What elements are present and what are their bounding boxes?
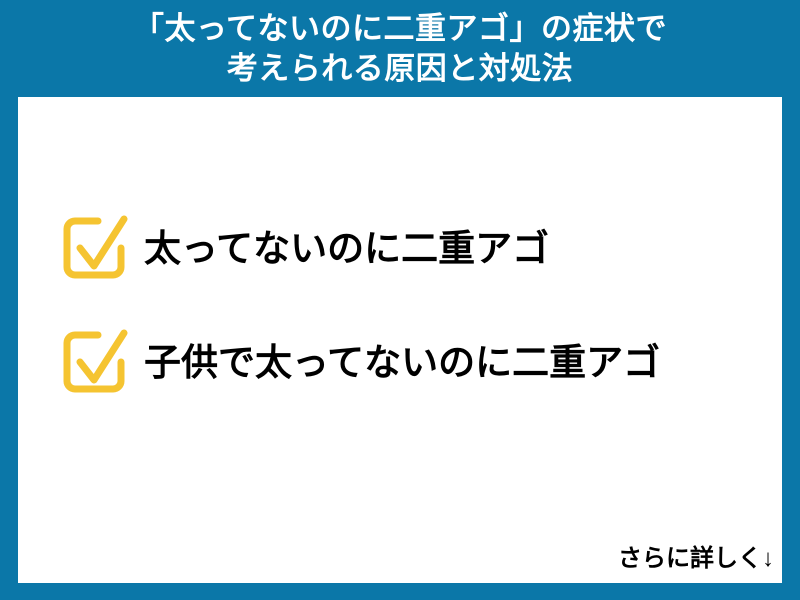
more-details-link[interactable]: さらに詳しく↓ [618,538,774,573]
poster-root: 「太ってないのに二重アゴ」の症状で 考えられる原因と対処法 太ってないのに二重ア… [0,0,800,600]
header-title-line-2: 考えられる原因と対処法 [227,49,574,89]
header-banner: 「太ってないのに二重アゴ」の症状で 考えられる原因と対処法 [0,0,800,97]
content-card: 太ってないのに二重アゴ 子供で太ってないのに二重アゴ さらに詳しく↓ [18,97,782,583]
checked-checkbox-icon [58,326,130,398]
list-item[interactable]: 子供で太ってないのに二重アゴ [58,325,758,399]
list-item[interactable]: 太ってないのに二重アゴ [58,211,758,285]
header-title-line-1: 「太ってないのに二重アゴ」の症状で [133,9,667,49]
list-item-label: 子供で太ってないのに二重アゴ [144,344,660,381]
list-item-label: 太ってないのに二重アゴ [144,230,549,267]
checklist: 太ってないのに二重アゴ 子供で太ってないのに二重アゴ [58,211,758,439]
checked-checkbox-icon [58,212,130,284]
